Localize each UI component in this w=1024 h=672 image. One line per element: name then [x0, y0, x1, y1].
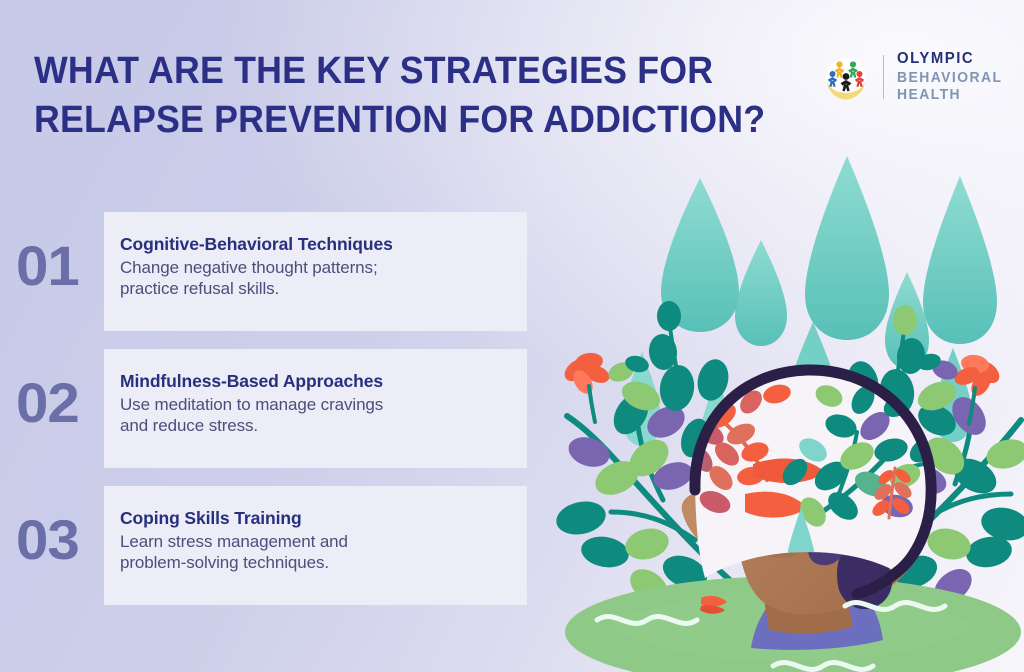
- strategy-card-2-body-line-2: and reduce stress.: [120, 415, 509, 436]
- logo-divider: [883, 55, 884, 99]
- strategy-card-2-body-line-1: Use meditation to manage cravings: [120, 394, 509, 415]
- strategy-card-3-body-line-2: problem-solving techniques.: [120, 552, 509, 573]
- logo-wordmark: OLYMPIC BEHAVIORAL HEALTH: [897, 51, 1007, 103]
- strategy-card-3-title: Coping Skills Training: [120, 508, 509, 529]
- strategy-card-1-body: Change negative thought patterns; practi…: [120, 257, 509, 299]
- strategy-card-1-title: Cognitive-Behavioral Techniques: [120, 234, 509, 255]
- strategy-card-1-body-line-2: practice refusal skills.: [120, 278, 509, 299]
- strategy-card-1-body-line-1: Change negative thought patterns;: [120, 257, 509, 278]
- strategy-card-2: Mindfulness-Based Approaches Use meditat…: [104, 349, 527, 468]
- infographic-page: WHAT ARE THE KEY STRATEGIES FOR RELAPSE …: [0, 0, 1024, 672]
- strategy-card-3: Coping Skills Training Learn stress mana…: [104, 486, 527, 605]
- strategy-card-2-title: Mindfulness-Based Approaches: [120, 371, 509, 392]
- logo-wordmark-line-3: HEALTH: [897, 88, 1002, 103]
- page-title-line-1: WHAT ARE THE KEY STRATEGIES FOR: [34, 47, 730, 96]
- brand-logo: OLYMPIC BEHAVIORAL HEALTH: [820, 46, 1000, 108]
- strategy-card-3-body-line-1: Learn stress management and: [120, 531, 509, 552]
- logo-wordmark-line-2: BEHAVIORAL: [897, 71, 1002, 86]
- strategy-card-2-body: Use meditation to manage cravings and re…: [120, 394, 509, 436]
- strategy-card-3-number: 03: [16, 512, 79, 568]
- logo-wordmark-line-1: OLYMPIC: [897, 51, 1002, 67]
- strategy-card-1: Cognitive-Behavioral Techniques Change n…: [104, 212, 527, 331]
- strategy-card-2-number: 02: [16, 375, 79, 431]
- logo-circle-mark-icon: [820, 51, 872, 103]
- strategy-card-1-number: 01: [16, 238, 79, 294]
- coral-flower: [560, 351, 612, 422]
- head-illustration: [545, 120, 1024, 672]
- strategy-card-3-body: Learn stress management and problem-solv…: [120, 531, 509, 573]
